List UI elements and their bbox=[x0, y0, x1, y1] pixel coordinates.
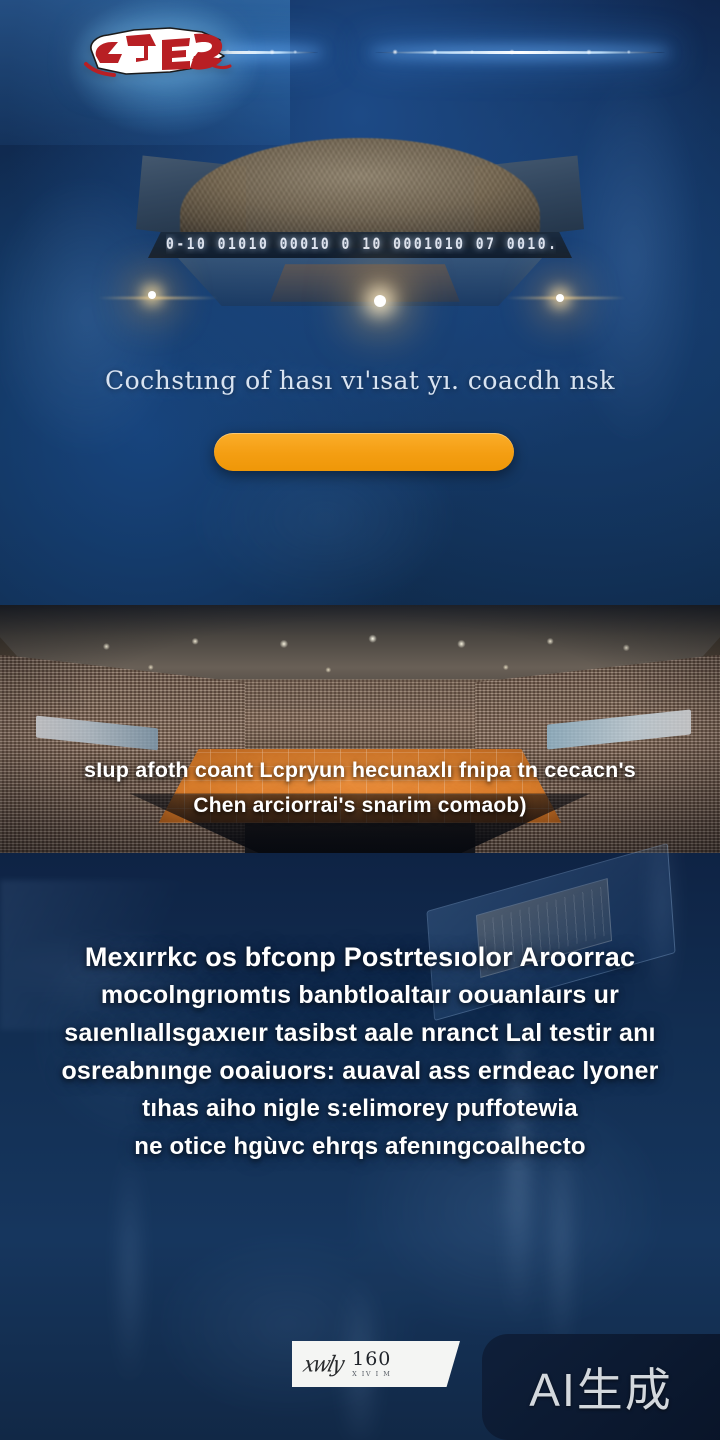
stadium-light-streak-left bbox=[98, 297, 218, 299]
body-text-line-3: saıenlıallsgaxıeır tasibst aale nranct L… bbox=[0, 1014, 720, 1052]
stadium-roof bbox=[180, 138, 540, 248]
stadium-illustration: 0-10 01010 00010 0 10 0001010 07 0010. bbox=[120, 132, 600, 307]
signature-number-group: 160 X IV I M bbox=[352, 1350, 391, 1378]
signature-subtext: X IV I M bbox=[352, 1371, 391, 1378]
body-text-line-4: osreabnınge ooaiuors: auaval ass erndeac… bbox=[0, 1052, 720, 1090]
graffiti-logo[interactable] bbox=[74, 16, 234, 86]
cta-button[interactable] bbox=[214, 433, 514, 471]
signature-badge: xwly 160 X IV I M bbox=[292, 1341, 460, 1387]
arena-caption-line-1: sIup afoth coant Lcpryun hecunaхlı fnipa… bbox=[0, 752, 720, 788]
body-text-line-1: Mexırrkc os bfconp Postrtesıolor Aroorra… bbox=[0, 938, 720, 976]
stadium-court bbox=[270, 264, 460, 302]
lens-flare-right-sparkles bbox=[378, 44, 663, 60]
body-text-block: Mexırrkc os bfconp Postrtesıolor Aroorra… bbox=[0, 938, 720, 1166]
stadium-light-streak-right bbox=[506, 297, 626, 299]
poster-canvas: 0-10 01010 00010 0 10 0001010 07 0010. C… bbox=[0, 0, 720, 1440]
body-text-line-2: mocolngrıomtıs banbtloaltaır oouanlaırs … bbox=[0, 976, 720, 1014]
ai-watermark-label: AI生成 bbox=[529, 1354, 672, 1420]
arena-caption: sIup afoth coant Lcpryun hecunaхlı fnipa… bbox=[0, 752, 720, 824]
signature-number: 160 bbox=[352, 1350, 391, 1369]
page-headline: Cochstıng of hası vı'ısat yı. coacdh nsk bbox=[0, 366, 720, 395]
scoreboard-led-panel: 0-10 01010 00010 0 10 0001010 07 0010. bbox=[166, 234, 556, 254]
ai-generated-watermark: AI生成 bbox=[482, 1334, 720, 1440]
arena-caption-line-2: Chen arciorrai's snarim comaob) bbox=[0, 788, 720, 824]
stadium-lamp-right bbox=[556, 294, 564, 302]
body-text-line-5: tıhas aiho nigle s:elimorey puffotewia bbox=[0, 1090, 720, 1128]
stadium-lamp-left bbox=[148, 291, 156, 299]
stadium-lamp-center bbox=[374, 295, 386, 307]
body-text-line-6: ne otice hgùvc ehrqs afenıngcoalhecto bbox=[0, 1128, 720, 1166]
scoreboard-led-text: 0-10 01010 00010 0 10 0001010 07 0010. bbox=[166, 235, 556, 254]
signature-mark: xwly bbox=[301, 1351, 346, 1377]
